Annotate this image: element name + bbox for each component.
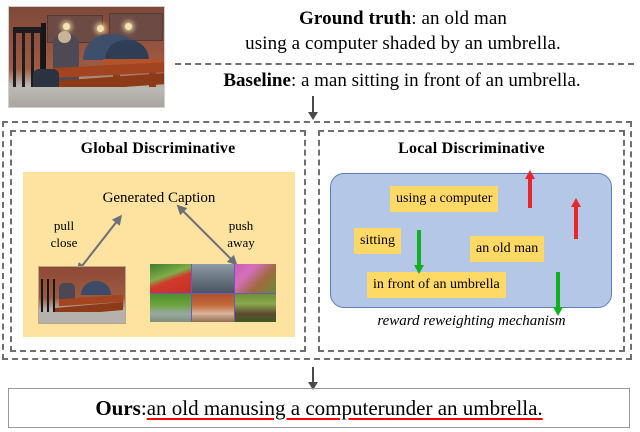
flow-arrow-down-top — [312, 96, 314, 113]
ours-span-using-a-computer: using a computer — [240, 396, 385, 421]
ground-truth-text-line1: : an old man — [411, 8, 507, 29]
phrase-chip-sitting: sitting — [354, 228, 401, 254]
push-away-label: push away — [212, 217, 270, 251]
pull-close-label: pull close — [36, 217, 92, 251]
ground-truth-caption: Ground truth: an old man using a compute… — [172, 6, 634, 56]
baseline-text: : a man sitting in front of an umbrella. — [291, 70, 581, 91]
phrase-chip-an-old-man: an old man — [470, 236, 544, 262]
flow-arrow-down-bottom — [312, 367, 314, 383]
baseline-label: Baseline — [223, 70, 291, 91]
source-image — [8, 6, 165, 108]
global-panel-title: Global Discriminative — [12, 140, 304, 158]
phrase-chip-in-front-of-an-umbrella: in front of an umbrella — [367, 272, 506, 298]
pull-close-line1: pull — [36, 217, 92, 234]
reward-up-arrow-an-old-man — [574, 206, 578, 239]
reward-down-arrow-in-front-of-an-umbrella — [556, 272, 560, 308]
ours-label: Ours — [95, 396, 141, 421]
reward-up-arrow-using-a-computer — [528, 178, 532, 208]
ours-result-caption: Ours: an old man using a computer under … — [8, 388, 630, 428]
positive-image — [38, 266, 126, 324]
reward-reweighting-caption: reward reweighting mechanism — [318, 313, 625, 330]
baseline-caption: Baseline: a man sitting in front of an u… — [166, 68, 638, 93]
push-away-line1: push — [212, 217, 270, 234]
ours-span-under-an-umbrella: under an umbrella. — [385, 396, 543, 421]
reward-down-arrow-sitting — [417, 230, 421, 266]
ground-truth-text-line2: using a computer shaded by an umbrella. — [172, 31, 634, 56]
negative-image-grid — [150, 264, 276, 322]
dashed-divider — [175, 63, 634, 65]
local-panel-title: Local Discriminative — [320, 140, 623, 158]
ground-truth-label: Ground truth — [299, 8, 411, 29]
ours-span-an-old-man: an old man — [147, 396, 240, 421]
phrase-chip-using-a-computer: using a computer — [390, 186, 498, 212]
pull-close-line2: close — [36, 234, 92, 251]
generated-caption-label: Generated Caption — [23, 190, 295, 207]
